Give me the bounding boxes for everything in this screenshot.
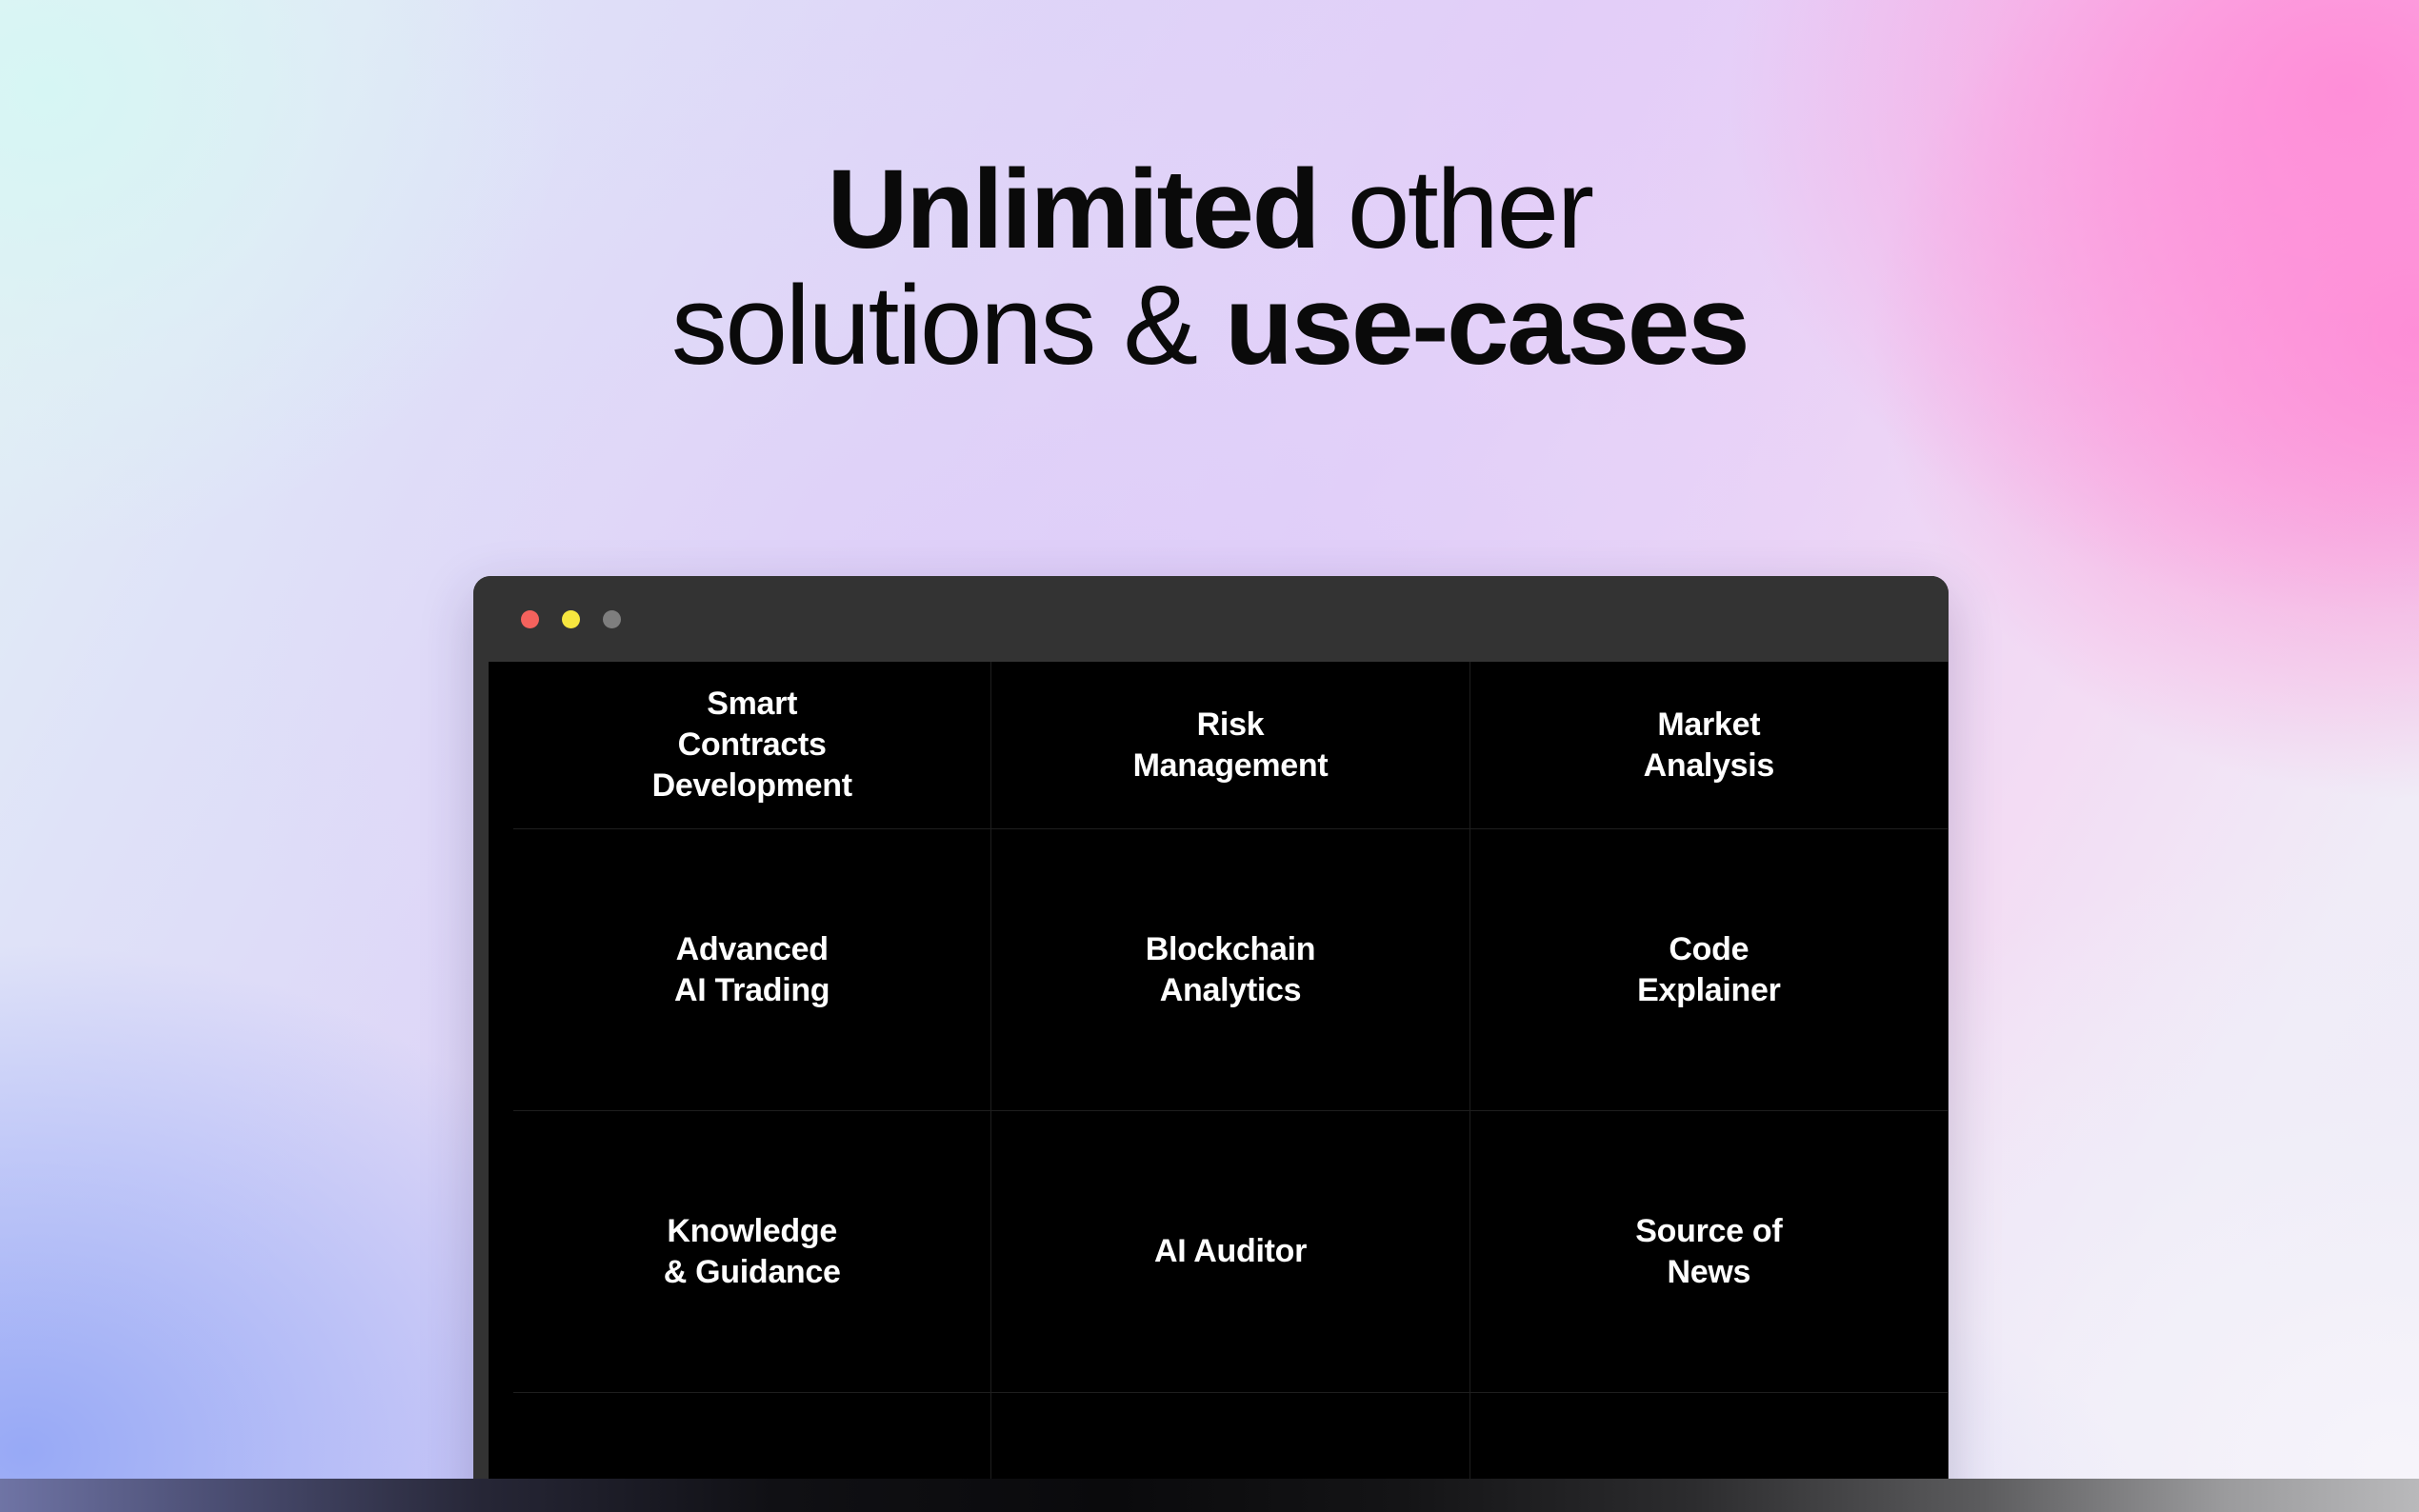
window-titlebar[interactable]	[473, 576, 1949, 662]
use-case-label: Source of News	[1622, 1211, 1795, 1293]
use-case-cell-market-analysis[interactable]: Market Analysis	[1470, 662, 1949, 829]
use-case-cell-source-of-news[interactable]: Source of News	[1470, 1111, 1949, 1393]
bottom-strip	[0, 1479, 2419, 1512]
minimize-icon[interactable]	[562, 610, 580, 628]
headline-word-unlimited: Unlimited	[827, 147, 1318, 272]
headline-word-usecases: use-cases	[1225, 263, 1748, 388]
use-case-cell-risk-management[interactable]: Risk Management	[991, 662, 1469, 829]
use-case-label: Market Analysis	[1630, 705, 1788, 786]
headline-line-1: Unlimited other	[0, 152, 2419, 269]
use-case-label: Code Explainer	[1624, 929, 1793, 1011]
maximize-icon[interactable]	[603, 610, 621, 628]
use-case-cell-code-explainer[interactable]: Code Explainer	[1470, 829, 1949, 1111]
use-case-label: Smart Contracts Development	[639, 684, 866, 806]
page-root: Unlimited other solutions & use-cases Sm…	[0, 0, 2419, 1512]
use-case-label: Blockchain Analytics	[1132, 929, 1329, 1011]
use-case-cell-knowledge-guidance[interactable]: Knowledge & Guidance	[513, 1111, 991, 1393]
use-case-cell-advanced-ai-trading[interactable]: Advanced AI Trading	[513, 829, 991, 1111]
headline-word-other: other	[1318, 147, 1591, 272]
headline-line-2: solutions & use-cases	[0, 269, 2419, 385]
browser-window: Smart Contracts Development Risk Managem…	[473, 576, 1949, 1512]
use-case-cell-ai-auditor[interactable]: AI Auditor	[991, 1111, 1469, 1393]
use-case-cell-blockchain-analytics[interactable]: Blockchain Analytics	[991, 829, 1469, 1111]
use-case-cell-smart-contracts-development[interactable]: Smart Contracts Development	[513, 662, 991, 829]
use-case-grid: Smart Contracts Development Risk Managem…	[513, 662, 1949, 1512]
window-content: Smart Contracts Development Risk Managem…	[489, 662, 1949, 1512]
page-title: Unlimited other solutions & use-cases	[0, 152, 2419, 384]
use-case-label: Advanced AI Trading	[661, 929, 843, 1011]
use-case-label: Risk Management	[1120, 705, 1342, 786]
headline-word-solutions: solutions &	[671, 263, 1225, 388]
close-icon[interactable]	[521, 610, 539, 628]
use-case-label: Knowledge & Guidance	[650, 1211, 854, 1293]
use-case-label: AI Auditor	[1141, 1231, 1320, 1272]
